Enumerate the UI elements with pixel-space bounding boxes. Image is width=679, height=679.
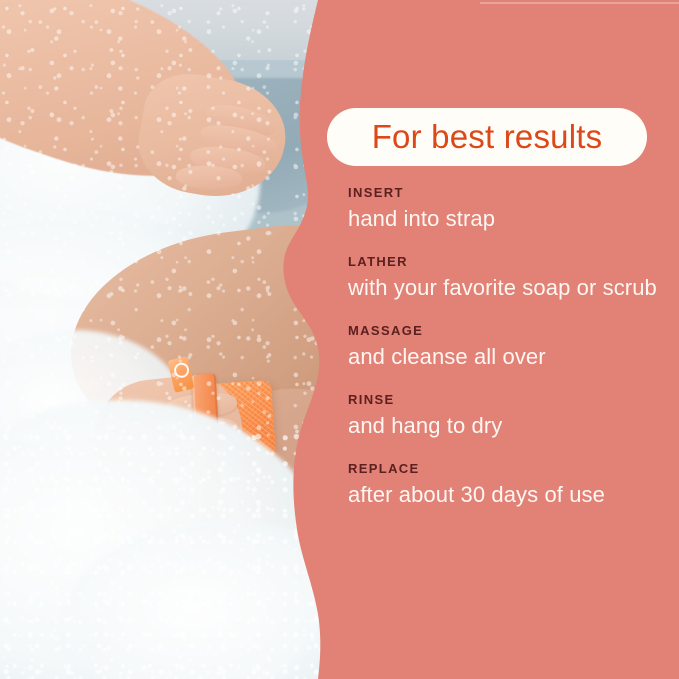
- title-pill: For best results: [327, 108, 647, 166]
- step-replace: REPLACE after about 30 days of use: [348, 462, 678, 510]
- lifestyle-photo: [0, 0, 340, 679]
- step-text: and hang to dry: [348, 412, 678, 441]
- step-label: RINSE: [348, 393, 678, 407]
- bubble-texture-dense: [0, 430, 340, 679]
- step-rinse: RINSE and hang to dry: [348, 393, 678, 441]
- step-label: INSERT: [348, 186, 678, 200]
- step-lather: LATHER with your favorite soap or scrub: [348, 255, 678, 303]
- step-label: MASSAGE: [348, 324, 678, 338]
- step-text: with your favorite soap or scrub: [348, 274, 678, 303]
- step-massage: MASSAGE and cleanse all over: [348, 324, 678, 372]
- step-text: and cleanse all over: [348, 343, 678, 372]
- steps-list: INSERT hand into strap LATHER with your …: [348, 186, 678, 509]
- step-insert: INSERT hand into strap: [348, 186, 678, 234]
- step-label: REPLACE: [348, 462, 678, 476]
- product-instruction-card: For best results INSERT hand into strap …: [0, 0, 679, 679]
- step-text: after about 30 days of use: [348, 481, 678, 510]
- page-title: For best results: [372, 118, 603, 156]
- step-label: LATHER: [348, 255, 678, 269]
- step-text: hand into strap: [348, 205, 678, 234]
- instructions-panel: For best results INSERT hand into strap …: [327, 0, 679, 679]
